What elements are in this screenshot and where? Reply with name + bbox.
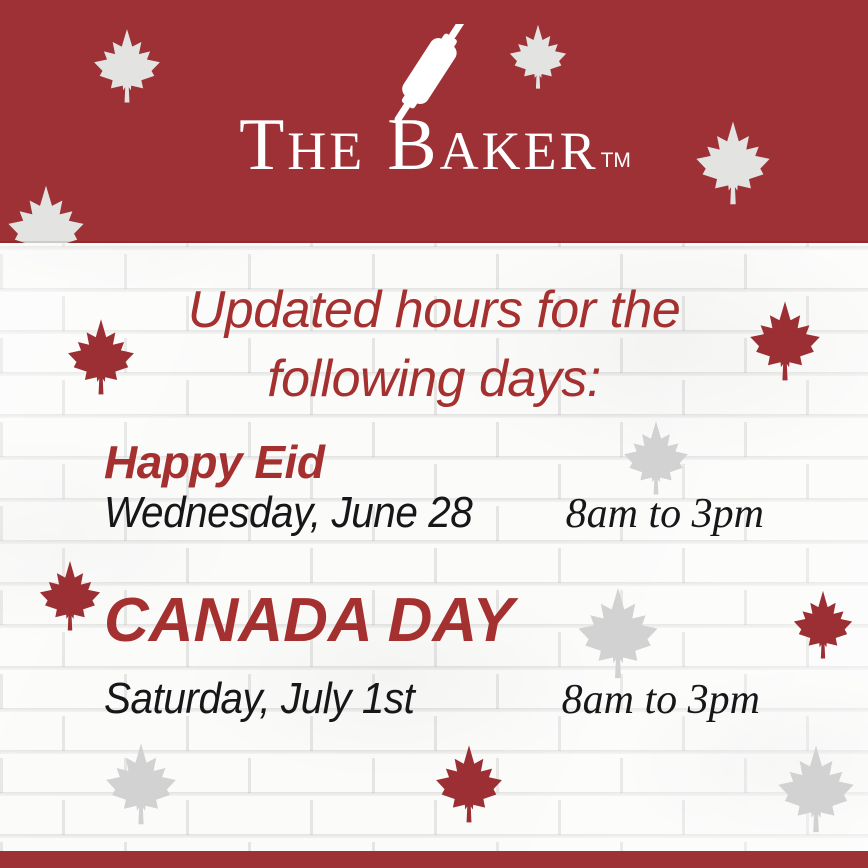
- brand-logo: THEBAKERTM: [0, 0, 868, 243]
- page-title: Updated hours for the following days:: [0, 243, 868, 413]
- event-hours: 8am to 3pm: [566, 491, 768, 537]
- event-date: Wednesday, June 28: [104, 489, 472, 537]
- poster-canvas: THEBAKERTM Updated hours for the followi…: [0, 0, 868, 868]
- event-block-canada-day: CANADA DAY Saturday, July 1st 8am to 3pm: [0, 588, 868, 723]
- event-detail-row: Wednesday, June 28 8am to 3pm: [0, 489, 868, 537]
- brand-wordmark: THEBAKERTM: [0, 108, 868, 182]
- brand-letter-t: T: [239, 104, 287, 186]
- event-title: Happy Eid: [0, 438, 868, 486]
- brand-letters-he: HE: [287, 121, 365, 181]
- trademark-mark: TM: [601, 149, 631, 172]
- event-hours: 8am to 3pm: [562, 677, 768, 723]
- event-block-eid: Happy Eid Wednesday, June 28 8am to 3pm: [0, 438, 868, 538]
- brand-letter-b: B: [387, 104, 439, 186]
- footer-band: [0, 851, 868, 868]
- event-detail-row: Saturday, July 1st 8am to 3pm: [0, 675, 868, 723]
- event-title: CANADA DAY: [0, 588, 868, 653]
- event-date: Saturday, July 1st: [104, 675, 414, 723]
- main-content: Updated hours for the following days: Ha…: [0, 243, 868, 413]
- brand-letters-aker: AKER: [440, 121, 599, 181]
